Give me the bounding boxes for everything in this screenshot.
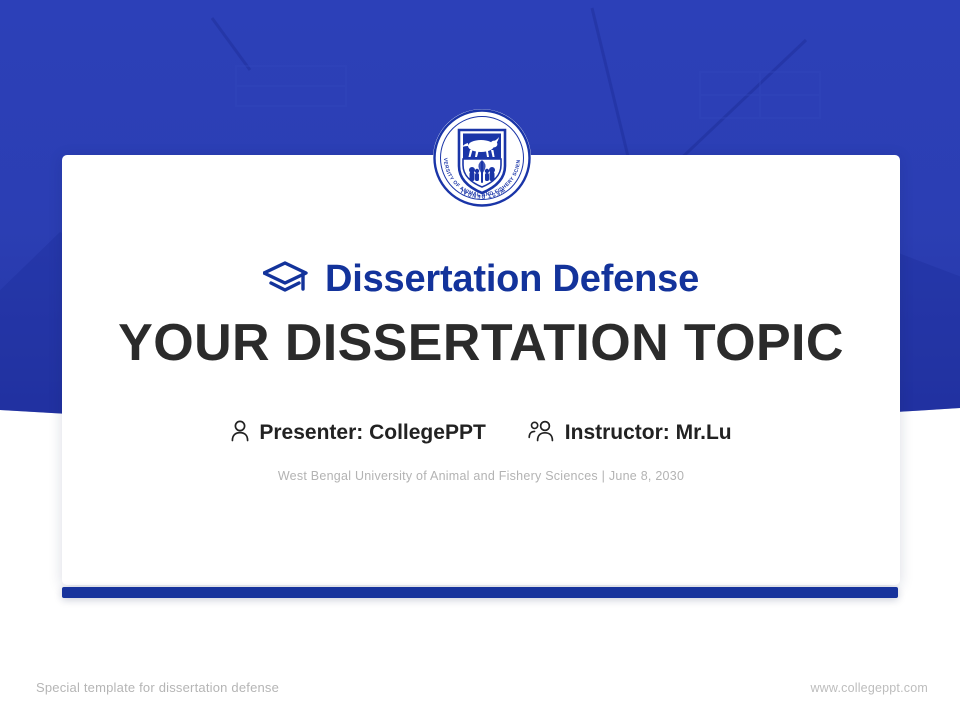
people-group-icon (528, 420, 556, 447)
content-card: Dissertation Defense YOUR DISSERTATION T… (62, 155, 900, 585)
people-row: Presenter: CollegePPT Instructor: Mr.Lu (230, 420, 731, 447)
instructor-block: Instructor: Mr.Lu (528, 420, 732, 447)
presenter-block: Presenter: CollegePPT (230, 420, 485, 447)
west-bengal-university-crest-icon: WEST BENGAL UNIVERSITY OF ANIMAL AND FIS… (432, 108, 532, 208)
graduation-cap-icon (263, 260, 309, 298)
eyebrow-row: Dissertation Defense (263, 256, 699, 302)
page-title: YOUR DISSERTATION TOPIC (118, 316, 844, 371)
instructor-label: Instructor: Mr.Lu (565, 421, 732, 445)
presenter-label: Presenter: CollegePPT (259, 421, 485, 445)
eyebrow-label: Dissertation Defense (325, 260, 699, 298)
card-content: Dissertation Defense YOUR DISSERTATION T… (62, 155, 900, 585)
footer-website-link[interactable]: www.collegeppt.com (810, 681, 928, 695)
card-accent-bar (62, 587, 898, 598)
footer-left-text: Special template for dissertation defens… (36, 680, 279, 695)
slide-root: Dissertation Defense YOUR DISSERTATION T… (0, 0, 960, 720)
meta-line: West Bengal University of Animal and Fis… (278, 469, 684, 483)
person-icon (230, 420, 250, 447)
